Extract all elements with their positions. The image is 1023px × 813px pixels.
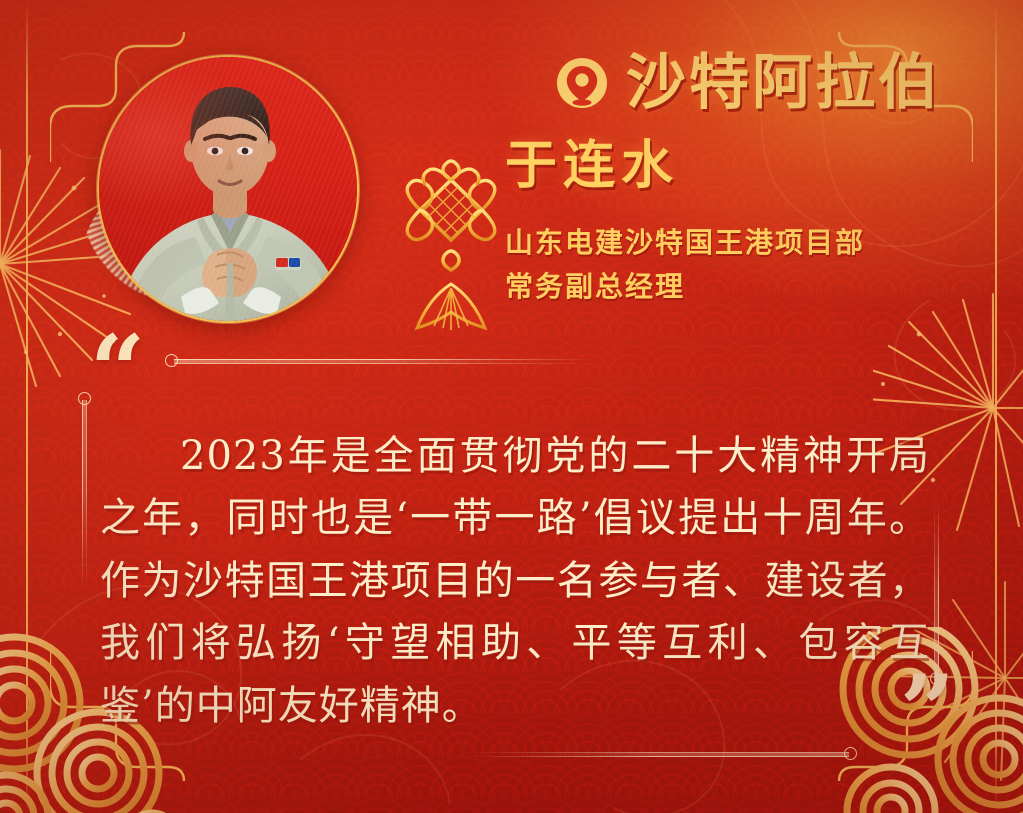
portrait-block (97, 55, 359, 323)
chinese-knot-icon (398, 132, 504, 332)
rule-top-horizontal (174, 359, 594, 364)
rule-right-vertical (934, 500, 939, 680)
map-pin-icon (556, 57, 608, 109)
greeting-card: 沙特阿拉伯 于连水 山东电建沙特国王港项目部 常务副总经理 “ ” 2023年是… (0, 0, 1023, 813)
company-logo-badge (275, 257, 301, 270)
country-name: 沙特阿拉伯 (626, 53, 941, 113)
portrait-photo (99, 57, 359, 323)
quote-open-mark: “ (90, 336, 145, 405)
avatar (97, 55, 359, 323)
person-organization: 山东电建沙特国王港项目部 (505, 222, 865, 265)
rule-bottom-dot (844, 747, 857, 760)
rule-left-vertical (82, 400, 87, 590)
country-header: 沙特阿拉伯 (556, 53, 941, 113)
quote-text: 2023年是全面贯彻党的二十大精神开局之年，同时也是‘一带一路’倡议提出十周年。… (100, 425, 930, 737)
rule-bottom-horizontal (469, 752, 849, 757)
person-name: 于连水 (505, 140, 679, 192)
person-position: 常务副总经理 (505, 266, 685, 309)
rule-right-dot (930, 672, 943, 685)
